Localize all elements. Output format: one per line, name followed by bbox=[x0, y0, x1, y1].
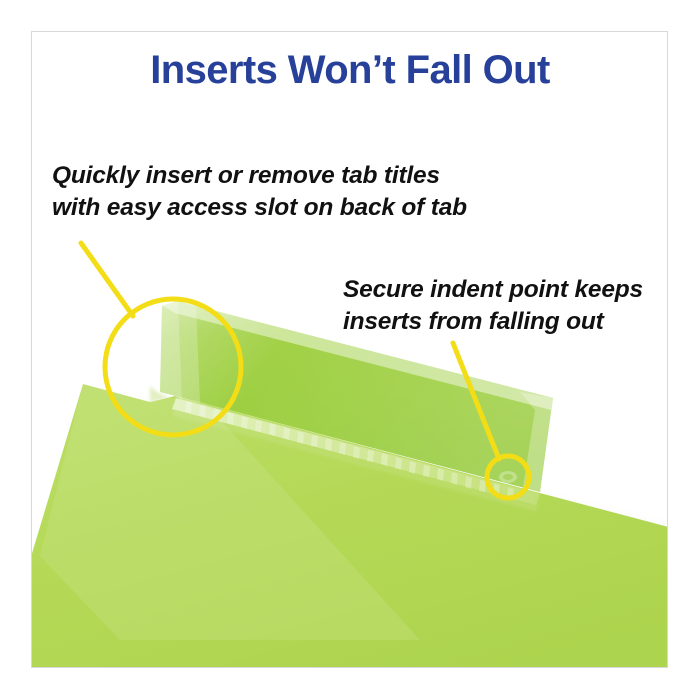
indent-point bbox=[499, 471, 517, 483]
access-slot bbox=[112, 300, 200, 403]
product-illustration bbox=[32, 32, 667, 667]
product-photo bbox=[32, 32, 667, 667]
page-title: Inserts Won’t Fall Out bbox=[0, 46, 700, 94]
callout-indent-point: Secure indent point keeps inserts from f… bbox=[343, 274, 643, 338]
callout-access-slot: Quickly insert or remove tab titles with… bbox=[52, 160, 467, 224]
product-feature-image: Inserts Won’t Fall Out Quickly insert or… bbox=[0, 0, 700, 700]
